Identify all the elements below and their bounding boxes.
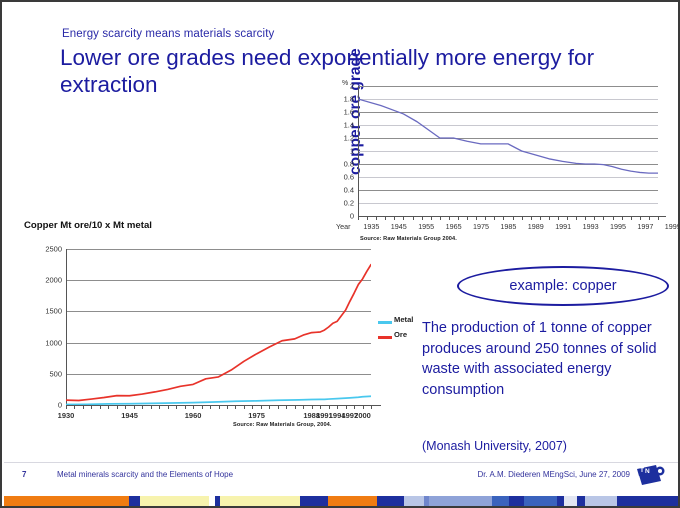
y-axis-tick-label: 0.4 — [328, 186, 354, 195]
y-axis-tick-label: 1.2 — [328, 134, 354, 143]
x-axis-tick — [252, 406, 253, 409]
y-axis-tick-label: 1 — [328, 147, 354, 156]
x-axis-tick-label: 2000 — [354, 411, 371, 420]
page-number: 7 — [22, 470, 26, 479]
x-axis-tick — [202, 406, 203, 409]
y-axis-tick-label: 0 — [32, 401, 62, 410]
x-axis-tick — [631, 217, 632, 220]
x-axis-tick — [269, 406, 270, 409]
x-axis-tick — [91, 406, 92, 409]
x-axis-tick — [210, 406, 211, 409]
x-axis-tick-label: 1930 — [58, 411, 75, 420]
footer-divider — [4, 462, 680, 463]
x-axis-tick — [176, 406, 177, 409]
legend-color-swatch — [378, 321, 392, 324]
x-axis-tick-label: 1965 — [446, 222, 462, 231]
legend-label: Metal — [394, 315, 413, 324]
x-axis-tick — [594, 217, 595, 220]
decorative-color-bar — [4, 496, 680, 506]
x-axis-tick — [522, 217, 523, 220]
color-bar-segment — [4, 496, 129, 506]
color-bar-segment — [509, 496, 524, 506]
x-axis-line — [66, 405, 381, 406]
color-bar-segment — [300, 496, 328, 506]
color-bar-segment — [564, 496, 577, 506]
x-axis-tick — [329, 406, 330, 409]
x-axis-tick — [567, 217, 568, 220]
x-axis-tick — [117, 406, 118, 409]
y-axis-tick-label: 1000 — [32, 338, 62, 347]
x-axis-tick — [658, 217, 659, 220]
y-axis-tick-label: 0.2 — [328, 199, 354, 208]
x-axis-tick — [467, 217, 468, 220]
slide-kicker: Energy scarcity means materials scarcity — [62, 28, 274, 40]
x-axis-tick — [346, 406, 347, 409]
footer-author: Dr. A.M. Diederen MEngSci, June 27, 2009 — [477, 470, 630, 479]
x-axis-tick — [531, 217, 532, 220]
x-axis-tick — [613, 217, 614, 220]
legend-color-swatch — [378, 336, 392, 339]
x-axis-tick — [494, 217, 495, 220]
x-axis-tick — [244, 406, 245, 409]
copper-production-chart: Copper Mt ore/10 x Mt metal 050010001500… — [18, 220, 418, 435]
y-axis-tick-label: 1.6 — [328, 108, 354, 117]
x-axis-tick-label: 1993 — [583, 222, 599, 231]
x-axis-tick — [431, 217, 432, 220]
color-bar-segment — [140, 496, 209, 506]
x-axis-tick — [640, 217, 641, 220]
color-bar-segment — [577, 496, 585, 506]
color-bar-segment — [492, 496, 509, 506]
color-bar-segment — [557, 496, 564, 506]
x-axis-tick — [458, 217, 459, 220]
y-axis-tick-label: 1.4 — [328, 121, 354, 130]
y-axis-tick-label: 0.6 — [328, 173, 354, 182]
x-axis-tick — [227, 406, 228, 409]
x-axis-tick — [503, 217, 504, 220]
x-axis-tick — [422, 217, 423, 220]
x-axis-tick — [485, 217, 486, 220]
production-plot-area: 0500100015002000250019301945196019751988… — [66, 249, 371, 405]
x-axis-tick-label: 1945 — [121, 411, 138, 420]
x-axis-tick-label: 1985 — [500, 222, 516, 231]
x-axis-tick-label: 1997 — [637, 222, 653, 231]
production-source-note: Source: Raw Materials Group, 2004. — [233, 422, 332, 428]
x-axis-tick — [449, 217, 450, 220]
svg-text:N: N — [645, 468, 650, 475]
x-axis-tick — [622, 217, 623, 220]
color-bar-segment — [585, 496, 617, 506]
color-bar-segment — [220, 496, 300, 506]
x-axis-tick — [219, 406, 220, 409]
x-axis-tick — [185, 406, 186, 409]
x-axis-tick — [320, 406, 321, 409]
y-axis-tick-label: 1500 — [32, 307, 62, 316]
x-axis-tick — [168, 406, 169, 409]
x-axis-tick — [134, 406, 135, 409]
legend-label: Ore — [394, 330, 407, 339]
x-axis-tick — [337, 406, 338, 409]
series-layer — [358, 86, 658, 216]
x-axis-tick — [603, 217, 604, 220]
y-axis-tick-label: 2500 — [32, 245, 62, 254]
x-axis-tick — [142, 406, 143, 409]
color-bar-segment — [328, 496, 377, 506]
x-axis-tick — [649, 217, 650, 220]
x-axis-tick — [363, 406, 364, 409]
x-axis-tick — [235, 406, 236, 409]
body-paragraph: The production of 1 tonne of copper prod… — [422, 318, 672, 400]
x-axis-tick — [159, 406, 160, 409]
x-axis-tick — [476, 217, 477, 220]
example-copper-callout: example: copper — [457, 266, 669, 306]
x-axis-tick — [193, 406, 194, 409]
x-axis-tick-label: 1955 — [418, 222, 434, 231]
x-axis-tick-label: 1995 — [610, 222, 626, 231]
example-copper-label: example: copper — [459, 268, 667, 304]
x-axis-tick — [261, 406, 262, 409]
x-axis-tick-label: 1975 — [248, 411, 265, 420]
slide-canvas: Energy scarcity means materials scarcity… — [0, 0, 680, 508]
x-axis-tick — [303, 406, 304, 409]
x-axis-tick — [108, 406, 109, 409]
x-axis-tick-label: 1989 — [528, 222, 544, 231]
x-axis-tick — [286, 406, 287, 409]
x-axis-tick — [576, 217, 577, 220]
y-axis-tick-label: 0.8 — [328, 160, 354, 169]
source-attribution: (Monash University, 2007) — [422, 439, 567, 453]
color-bar-segment — [429, 496, 492, 506]
x-axis-tick — [371, 406, 372, 409]
color-bar-segment — [617, 496, 680, 506]
x-axis-tick — [83, 406, 84, 409]
x-axis-tick — [100, 406, 101, 409]
x-axis-tick-label: 1999 — [665, 222, 680, 231]
x-axis-tick — [125, 406, 126, 409]
color-bar-segment — [404, 496, 424, 506]
y-axis-tick-label: 500 — [32, 369, 62, 378]
x-axis-tick — [66, 406, 67, 409]
x-axis-tick-label: 1991 — [555, 222, 571, 231]
x-axis-tick — [540, 217, 541, 220]
color-bar-segment — [524, 496, 557, 506]
x-axis-tick — [549, 217, 550, 220]
ore-grade-plot-area: 00.20.40.60.811.21.41.61.82 — [358, 86, 658, 216]
x-axis-tick — [585, 217, 586, 220]
x-axis-tick — [312, 406, 313, 409]
color-bar-segment — [129, 496, 140, 506]
tno-logo: T N — [636, 464, 670, 486]
series-layer — [66, 249, 371, 405]
x-axis-tick-label: 1960 — [185, 411, 202, 420]
x-axis-tick-label: 1975 — [473, 222, 489, 231]
x-axis-tick — [278, 406, 279, 409]
x-axis-tick — [513, 217, 514, 220]
footer-deck-title: Metal minerals scarcity and the Elements… — [57, 470, 233, 479]
x-axis-tick — [295, 406, 296, 409]
x-axis-tick — [74, 406, 75, 409]
color-bar-segment — [377, 496, 404, 506]
x-axis-tick — [354, 406, 355, 409]
x-axis-tick — [440, 217, 441, 220]
x-axis-tick — [151, 406, 152, 409]
y-axis-tick-label: 1.8 — [328, 95, 354, 104]
x-axis-tick — [558, 217, 559, 220]
y-axis-tick-label: 2 — [328, 82, 354, 91]
y-axis-tick-label: 2000 — [32, 276, 62, 285]
svg-text:T: T — [640, 467, 644, 474]
production-chart-title: Copper Mt ore/10 x Mt metal — [24, 220, 152, 231]
